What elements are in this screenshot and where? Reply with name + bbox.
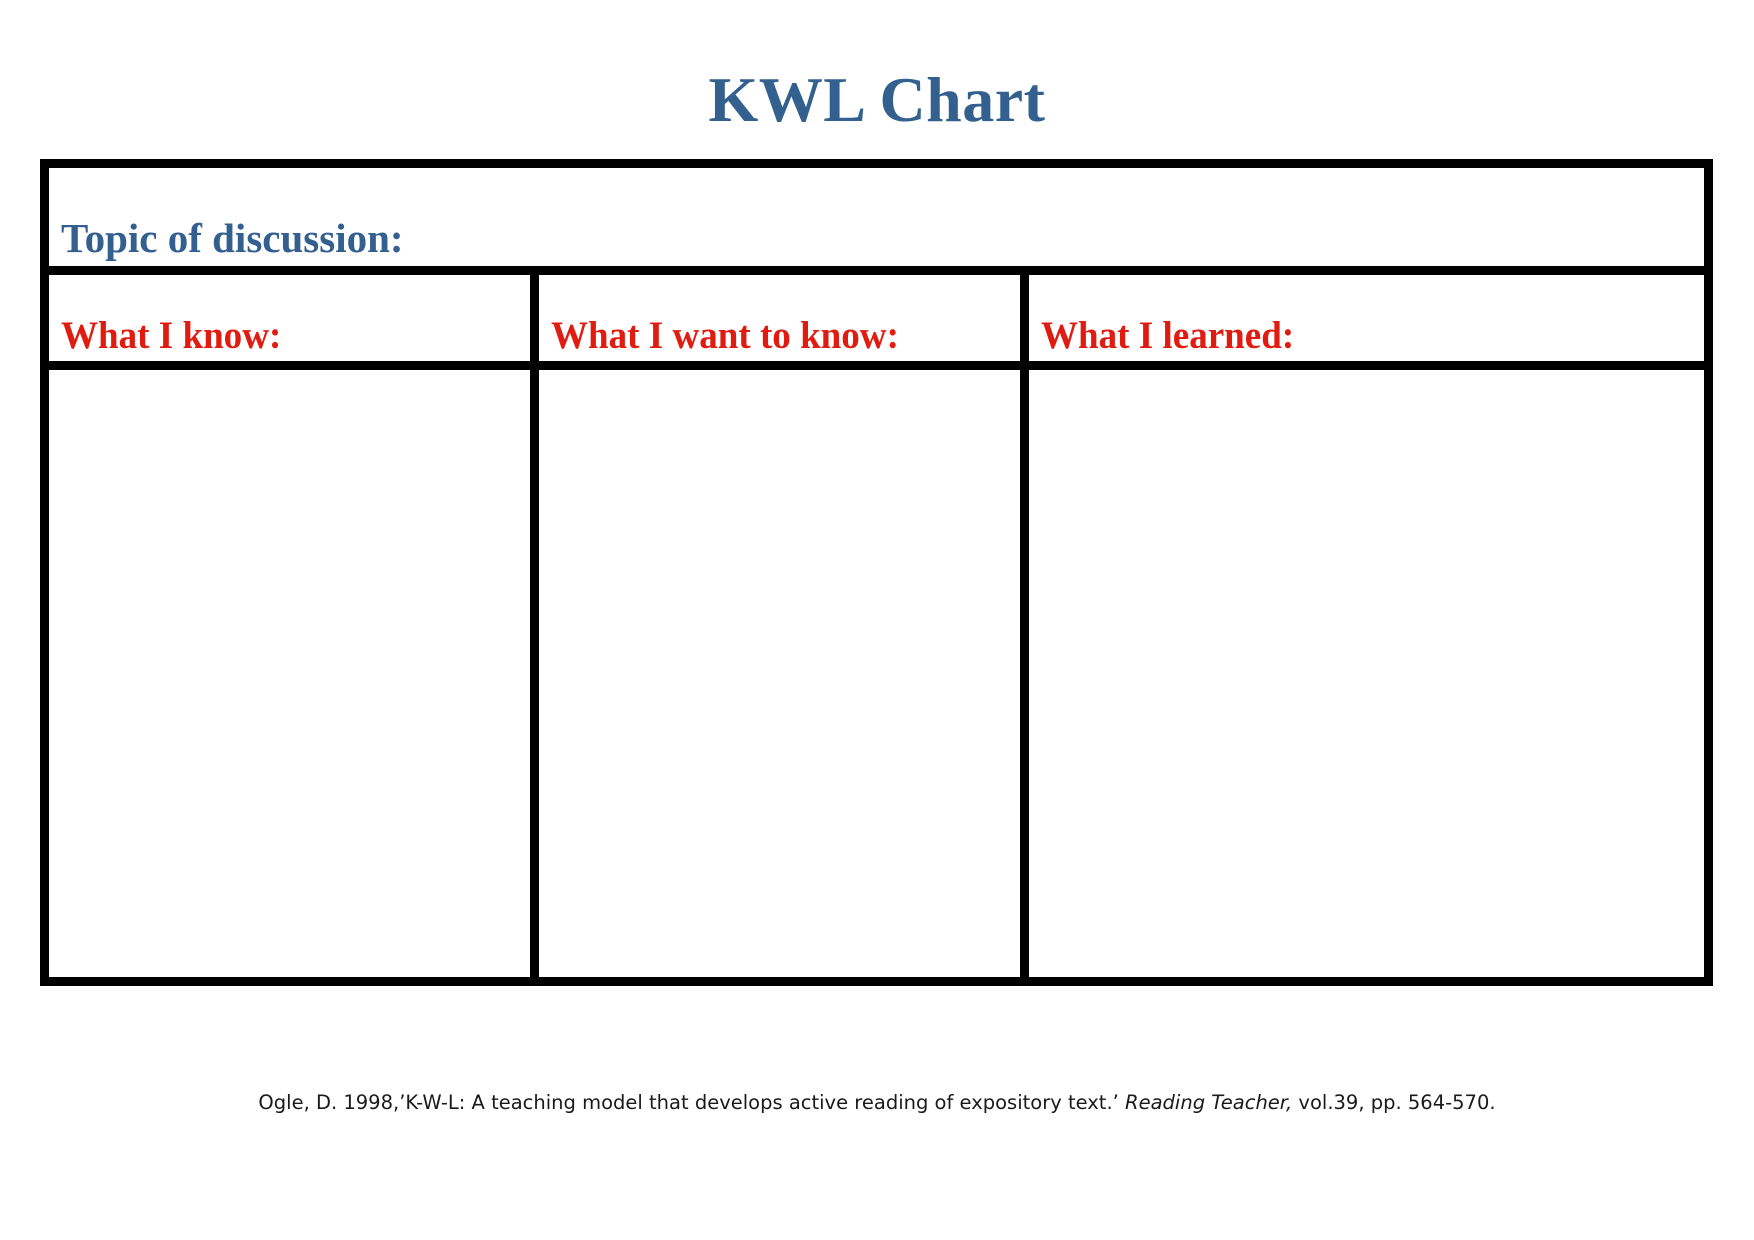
citation-part-two: vol.39, pp. 564-570. — [1292, 1091, 1495, 1114]
topic-of-discussion-label: Topic of discussion: — [61, 214, 404, 262]
body-cell-know[interactable] — [49, 370, 539, 977]
column-body-row — [49, 370, 1704, 977]
column-header-row: What I know: What I want to know: What I… — [49, 275, 1704, 370]
source-citation: Ogle, D. 1998,’K-W-L: A teaching model t… — [0, 1090, 1754, 1116]
citation-part-one: Ogle, D. 1998,’K-W-L: A teaching model t… — [258, 1091, 1125, 1114]
topic-row[interactable]: Topic of discussion: — [49, 168, 1704, 275]
column-header-learned-label: What I learned: — [1041, 313, 1294, 359]
citation-journal-name: Reading Teacher, — [1125, 1091, 1292, 1114]
page-title: KWL Chart — [0, 62, 1754, 138]
kwl-table: Topic of discussion: What I know: What I… — [40, 159, 1713, 986]
column-header-know-label: What I know: — [61, 313, 281, 359]
body-cell-learned[interactable] — [1029, 370, 1704, 977]
kwl-chart-page: KWL Chart Topic of discussion: What I kn… — [0, 0, 1754, 1240]
column-header-want-to-know: What I want to know: — [539, 275, 1029, 361]
body-cell-want-to-know[interactable] — [539, 370, 1029, 977]
column-header-know: What I know: — [49, 275, 539, 361]
column-header-learned: What I learned: — [1029, 275, 1704, 361]
column-header-want-to-know-label: What I want to know: — [551, 313, 899, 359]
